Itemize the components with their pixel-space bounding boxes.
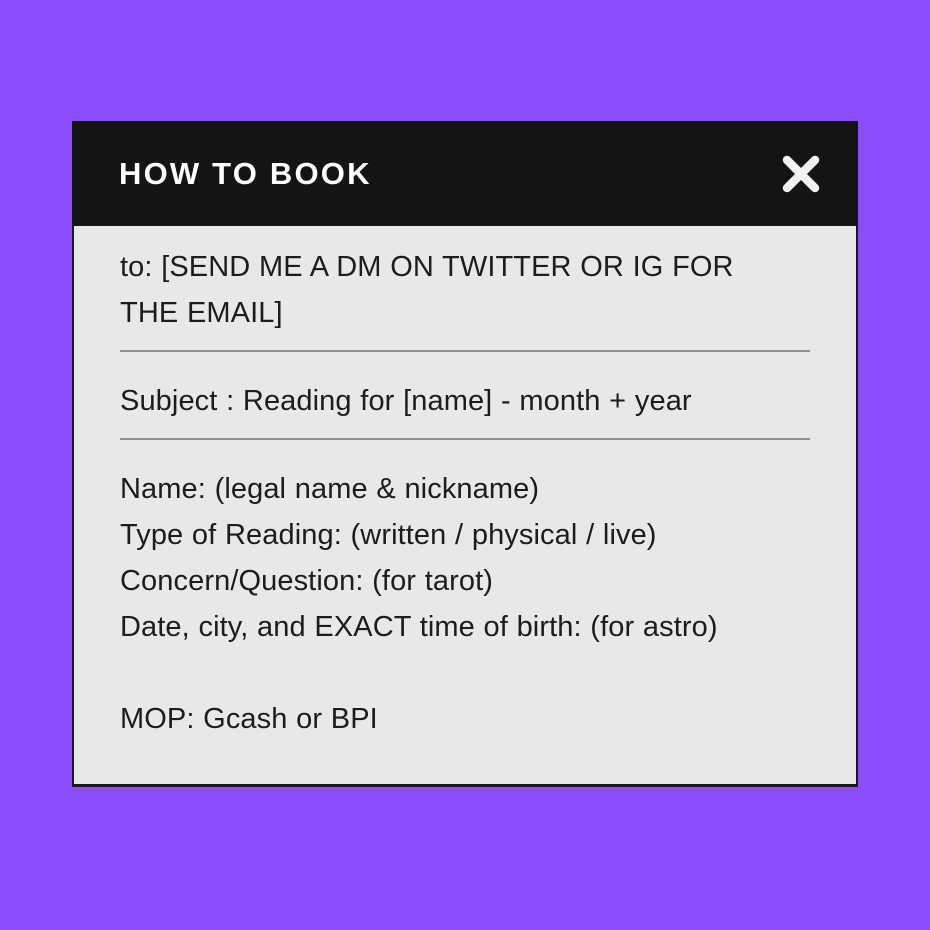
recipient-line: to: [SEND ME A DM ON TWITTER OR IG FOR T… [120,244,800,336]
field-item-name: Name: (legal name & nickname) [120,466,810,512]
card-body: to: [SEND ME A DM ON TWITTER OR IG FOR T… [72,226,858,787]
payment-method-line: MOP: Gcash or BPI [120,696,810,742]
field-item-birth-details: Date, city, and EXACT time of birth: (fo… [120,604,810,650]
divider-after-recipient [120,350,810,352]
close-icon[interactable] [778,151,824,197]
card-header: HOW TO BOOK [72,121,858,226]
section-spacer [120,650,810,696]
subject-line: Subject : Reading for [name] - month + y… [120,378,810,424]
field-item-type-of-reading: Type of Reading: (written / physical / l… [120,512,810,558]
page-canvas: HOW TO BOOK to: [SEND ME A DM ON TWITTER… [0,0,930,930]
divider-after-subject [120,438,810,440]
required-fields-list: Name: (legal name & nickname) Type of Re… [120,466,810,650]
page-title: HOW TO BOOK [119,158,372,189]
how-to-book-card: HOW TO BOOK to: [SEND ME A DM ON TWITTER… [72,121,858,787]
field-item-concern-question: Concern/Question: (for tarot) [120,558,810,604]
